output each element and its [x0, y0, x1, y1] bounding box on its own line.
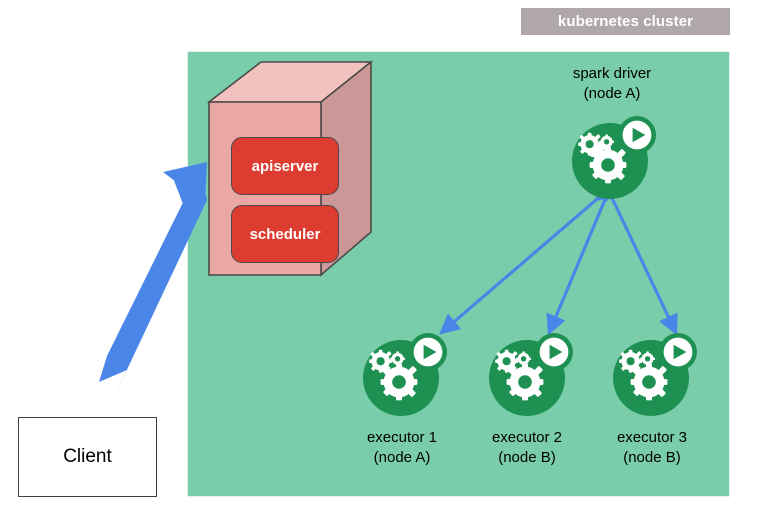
play-icon: [540, 338, 569, 367]
node-spark-driver[interactable]: [567, 113, 657, 203]
caption-executor-3-name: executor 3: [572, 428, 732, 448]
pod-scheduler-label: scheduler: [250, 226, 321, 243]
spark-submit-label: spark-submit: [114, 181, 187, 304]
client-box[interactable]: Client: [18, 417, 157, 497]
pod-apiserver-label: apiserver: [252, 158, 319, 175]
pod-scheduler[interactable]: scheduler: [231, 205, 339, 263]
play-icon: [414, 338, 443, 367]
control-plane-cube: apiserver scheduler: [203, 60, 373, 285]
node-executor-1[interactable]: [358, 330, 448, 420]
play-icon: [664, 338, 693, 367]
caption-spark-driver: spark driver (node A): [532, 64, 692, 104]
diagram-canvas: kubernetes cluster spark-submit apiserve…: [0, 0, 761, 516]
pod-apiserver[interactable]: apiserver: [231, 137, 339, 195]
node-executor-2[interactable]: [484, 330, 574, 420]
kubernetes-cluster-badge-label: kubernetes cluster: [558, 13, 693, 30]
caption-executor-3-node: (node B): [572, 448, 732, 468]
client-label: Client: [63, 446, 112, 468]
caption-spark-driver-name: spark driver: [532, 64, 692, 84]
node-executor-3[interactable]: [608, 330, 698, 420]
kubernetes-cluster-badge: kubernetes cluster: [521, 8, 730, 35]
caption-spark-driver-node: (node A): [532, 84, 692, 104]
caption-executor-3: executor 3 (node B): [572, 428, 732, 468]
play-icon: [623, 121, 652, 150]
